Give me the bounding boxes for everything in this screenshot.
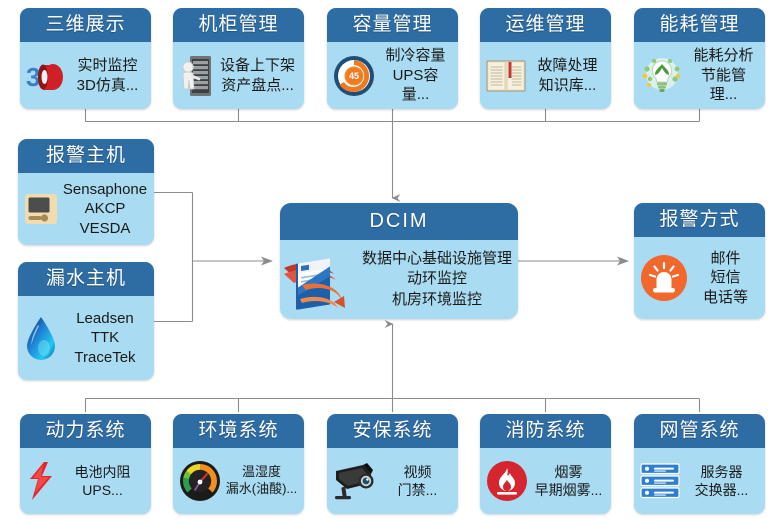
card-lines: Leadsen TTK TraceTek xyxy=(62,309,148,368)
card-body: 服务器 交换器... xyxy=(634,448,765,514)
card-lines: 服务器 交换器... xyxy=(684,463,759,499)
card-title: 报警方式 xyxy=(634,203,765,237)
card-title: 网管系统 xyxy=(634,414,765,448)
module-card-energy-management[interactable]: 能耗管理 xyxy=(634,8,765,109)
alarm-panel-icon xyxy=(24,192,58,226)
lightning-bolt-icon xyxy=(26,460,56,502)
card-body: 故障处理 知识库... xyxy=(480,42,611,109)
card-lines: 能耗分析 节能管理... xyxy=(688,46,759,105)
open-book-icon xyxy=(486,59,526,93)
svg-text:45: 45 xyxy=(349,71,359,81)
card-body: 烟雾 早期烟雾... xyxy=(480,448,611,514)
host-card-alarm-host[interactable]: 报警主机 Sensaphone AKCP VESDA xyxy=(18,139,154,245)
card-title: DCIM xyxy=(280,203,518,240)
green-bulb-icon xyxy=(640,55,684,97)
card-body: 3 实时监控 3D仿真... xyxy=(20,42,151,109)
system-card-environment[interactable]: 环境系统 温湿度 漏水(油酸)... xyxy=(173,414,304,514)
card-lines: 温湿度 漏水(油酸)... xyxy=(225,464,298,498)
card-lines: 实时监控 3D仿真... xyxy=(70,56,145,95)
card-title: 运维管理 xyxy=(480,8,611,42)
card-title: 漏水主机 xyxy=(18,262,154,296)
card-body: Leadsen TTK TraceTek xyxy=(18,296,154,380)
server-stack-icon xyxy=(640,462,680,500)
system-card-network-management[interactable]: 网管系统 xyxy=(634,414,765,514)
card-title: 机柜管理 xyxy=(173,8,304,42)
module-card-capacity-management[interactable]: 容量管理 45 制冷容量 UPS容量... xyxy=(327,8,458,109)
card-body: Sensaphone AKCP VESDA xyxy=(18,173,154,245)
module-card-operations-management[interactable]: 运维管理 故障处理 知识库... xyxy=(480,8,611,109)
card-body: 电池内阻 UPS... xyxy=(20,448,151,514)
gauge-45-icon: 45 xyxy=(333,55,375,97)
system-card-power[interactable]: 动力系统 电池内阻 UPS... xyxy=(20,414,151,514)
card-body: 邮件 短信 电话等 xyxy=(634,237,765,319)
card-lines: 故障处理 知识库... xyxy=(530,56,605,95)
card-title: 消防系统 xyxy=(480,414,611,448)
card-lines: Sensaphone AKCP VESDA xyxy=(62,180,148,239)
module-card-cabinet-management[interactable]: 机柜管理 xyxy=(173,8,304,109)
flame-icon xyxy=(486,460,528,502)
card-title: 能耗管理 xyxy=(634,8,765,42)
card-lines: 设备上下架 资产盘点... xyxy=(217,56,298,95)
center-card-dcim[interactable]: DCIM xyxy=(280,203,518,319)
card-title: 安保系统 xyxy=(327,414,458,448)
card-title: 报警主机 xyxy=(18,139,154,173)
server-rack-icon xyxy=(179,54,213,98)
card-title: 环境系统 xyxy=(173,414,304,448)
card-lines: 制冷容量 UPS容量... xyxy=(379,46,452,105)
dial-meter-icon xyxy=(179,460,221,502)
output-card-alarm-methods[interactable]: 报警方式 邮件 短信 电话等 xyxy=(634,203,765,319)
card-title: 容量管理 xyxy=(327,8,458,42)
card-body: 能耗分析 节能管理... xyxy=(634,42,765,109)
card-lines: 视频 门禁... xyxy=(383,463,452,499)
cctv-camera-icon xyxy=(333,462,379,500)
card-title: 三维展示 xyxy=(20,8,151,42)
card-body: 数据中心基础设施管理 动环监控 机房环境监控 xyxy=(280,240,518,319)
3d-cube-icon: 3 xyxy=(26,56,66,96)
card-lines: 烟雾 早期烟雾... xyxy=(532,463,605,499)
card-body: 设备上下架 资产盘点... xyxy=(173,42,304,109)
software-box-icon xyxy=(282,244,356,316)
card-body: 视频 门禁... xyxy=(327,448,458,514)
card-title: 动力系统 xyxy=(20,414,151,448)
host-card-leak-detection-host[interactable]: 漏水主机 Leadsen TTK xyxy=(18,262,154,380)
siren-icon xyxy=(640,254,688,302)
system-card-security[interactable]: 安保系统 视频 门禁... xyxy=(327,414,458,514)
card-lines: 邮件 短信 电话等 xyxy=(692,249,759,308)
card-body: 45 制冷容量 UPS容量... xyxy=(327,42,458,109)
card-body: 温湿度 漏水(油酸)... xyxy=(173,448,304,514)
card-lines: 数据中心基础设施管理 动环监控 机房环境监控 xyxy=(360,249,514,309)
diagram-canvas: 三维展示 3 实时监控 3D仿真... 机柜管理 xyxy=(0,0,782,519)
card-lines: 电池内阻 UPS... xyxy=(60,463,145,499)
system-card-fire[interactable]: 消防系统 烟雾 早期烟雾... xyxy=(480,414,611,514)
module-card-3d-display[interactable]: 三维展示 3 实时监控 3D仿真... xyxy=(20,8,151,109)
water-drop-icon xyxy=(24,315,58,361)
